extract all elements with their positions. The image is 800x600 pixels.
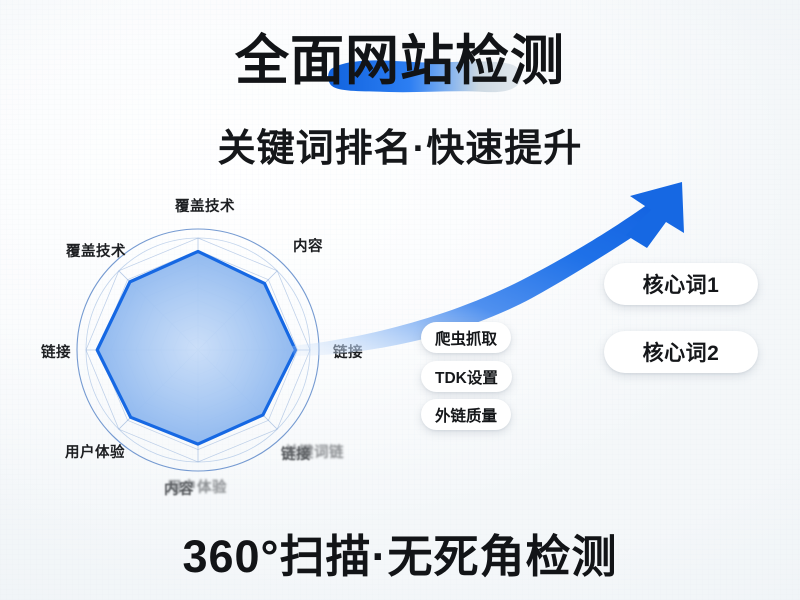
pill-tdk-label: TDK设置: [435, 366, 498, 388]
radar-label-lower-left: 用户体验: [65, 441, 125, 462]
pill-keyword-1[interactable]: 核心词1: [604, 263, 758, 305]
page-title: 全面网站检测: [235, 33, 565, 90]
page-title-text: 全面网站检测: [235, 31, 565, 91]
pill-keyword-2-label: 核心词2: [643, 337, 720, 367]
radar-label-lower-right: 关键词链 链接: [281, 443, 311, 464]
headline-block: 全面网站检测: [0, 33, 800, 90]
pill-keyword-1-label: 核心词1: [643, 269, 720, 299]
pill-keyword-2[interactable]: 核心词2: [604, 331, 758, 373]
radar-label-upper-left: 覆盖技术: [66, 240, 126, 261]
pill-crawl-label: 爬虫抓取: [435, 327, 497, 349]
radar-label-bottom: 用户体验 内容: [164, 478, 194, 499]
pill-tdk[interactable]: TDK设置: [421, 361, 512, 392]
pill-backlink-label: 外链质量: [435, 404, 497, 426]
pill-crawl[interactable]: 爬虫抓取: [421, 322, 511, 353]
radar-label-left: 链接: [41, 341, 71, 362]
radar-label-top: 覆盖技术: [175, 195, 235, 216]
page-footline: 360°扫描·无死角检测: [0, 520, 800, 585]
page-subtitle: 关键词排名·快速提升: [0, 117, 800, 172]
pill-backlink[interactable]: 外链质量: [421, 399, 511, 430]
poster-canvas: 全面网站检测 关键词排名·快速提升 覆盖技术 内容: [0, 0, 800, 600]
